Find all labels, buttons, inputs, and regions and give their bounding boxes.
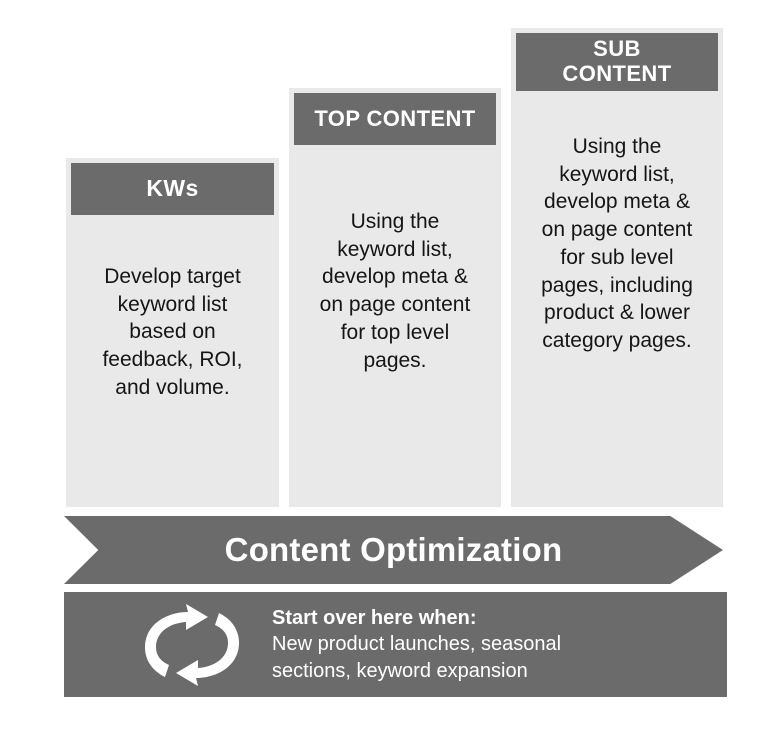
stage-body-top-content: Using the keyword list, develop meta & o… [297, 208, 493, 374]
restart-text-block: Start over here when: New product launch… [272, 605, 561, 685]
stage-header-top-content: TOP CONTENT [294, 93, 496, 145]
stage-body-kws: Develop target keyword list based on fee… [74, 263, 271, 402]
recycle-cycle-icon [140, 603, 244, 687]
stage-header-kws: KWs [71, 163, 274, 215]
restart-detail: New product launches, seasonal sections,… [272, 631, 561, 684]
restart-title: Start over here when: [272, 605, 561, 632]
content-optimization-banner: Content Optimization [64, 516, 723, 584]
stage-column-sub-content: SUB CONTENT Using the keyword list, deve… [511, 28, 723, 507]
banner-label: Content Optimization [225, 531, 563, 569]
restart-bar: Start over here when: New product launch… [64, 592, 727, 697]
stage-column-top-content: TOP CONTENT Using the keyword list, deve… [289, 88, 501, 507]
stage-body-sub-content: Using the keyword list, develop meta & o… [519, 133, 715, 355]
stage-column-kws: KWs Develop target keyword list based on… [66, 158, 279, 507]
stage-header-sub-content: SUB CONTENT [516, 33, 718, 91]
content-optimization-diagram: KWs Develop target keyword list based on… [0, 0, 768, 751]
